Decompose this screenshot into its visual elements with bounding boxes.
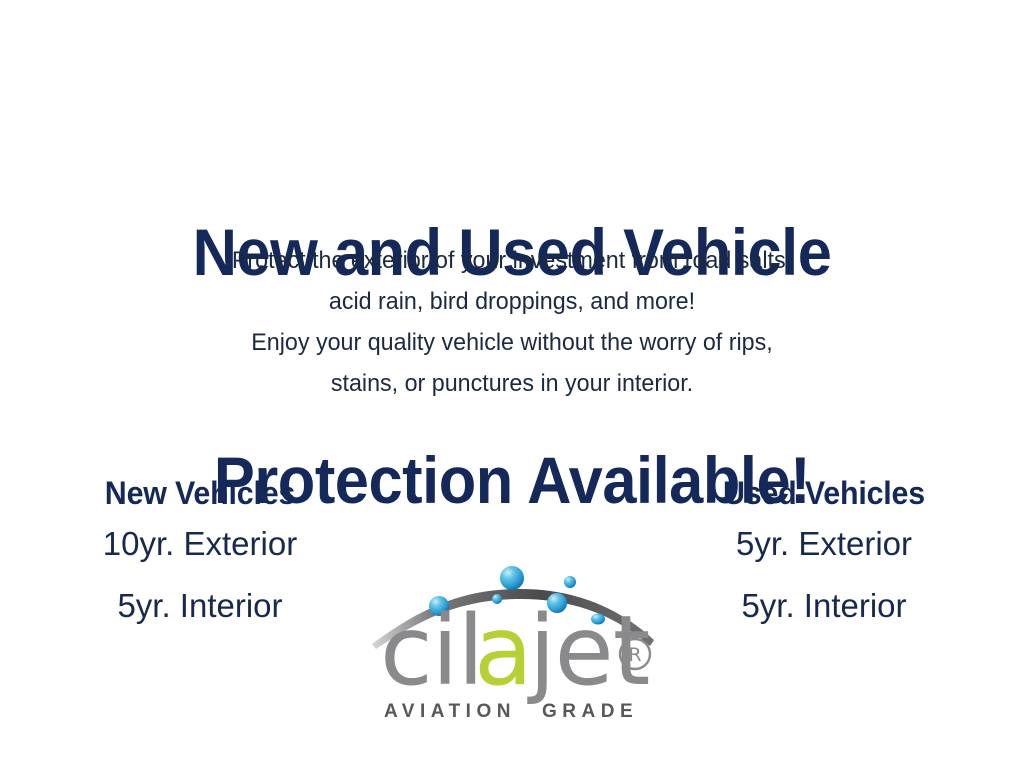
subtitle-line-2: acid rain, bird droppings, and more! xyxy=(15,281,1008,322)
cilajet-logo: cil a jet R AVIATION GRADE xyxy=(366,548,662,734)
bubble-large-top xyxy=(500,566,524,590)
logo-tagline-grade: GRADE xyxy=(542,701,638,722)
package-heading-new: New Vehicles xyxy=(10,473,390,513)
subtitle-line-1: Protect the exterior of your investment … xyxy=(15,240,1008,281)
package-new-exterior: 10yr. Exterior xyxy=(0,513,400,575)
package-used-exterior: 5yr. Exterior xyxy=(624,513,1024,575)
subtitle-paragraph: Protect the exterior of your investment … xyxy=(15,240,1008,404)
package-used-interior: 5yr. Interior xyxy=(624,575,1024,637)
package-heading-used: Used Vehicles xyxy=(634,473,1014,513)
svg-text:R: R xyxy=(628,644,641,666)
slide-canvas: New and Used Vehicle Protection Availabl… xyxy=(0,0,1024,768)
logo-wordmark-accent-a: a xyxy=(474,595,533,707)
logo-wordmark-cil: cil xyxy=(380,595,483,707)
logo-tagline-aviation: AVIATION xyxy=(384,701,516,722)
subtitle-line-4: stains, or punctures in your interior. xyxy=(15,363,1008,404)
subtitle-line-3: Enjoy your quality vehicle without the w… xyxy=(15,322,1008,363)
bubble-small-right xyxy=(564,576,576,588)
package-column-used-vehicles: Used Vehicles 5yr. Exterior 5yr. Interio… xyxy=(624,473,1024,637)
package-column-new-vehicles: New Vehicles 10yr. Exterior 5yr. Interio… xyxy=(0,473,400,637)
package-new-interior: 5yr. Interior xyxy=(0,575,400,637)
